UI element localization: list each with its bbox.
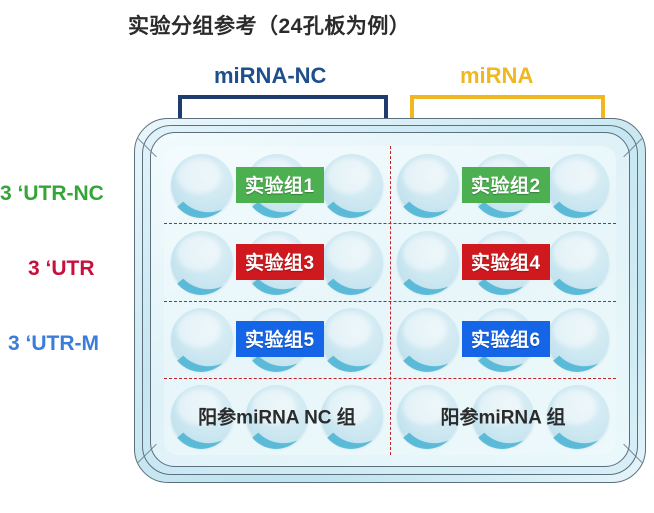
plate-well-area: 实验组1实验组2实验组3实验组4实验组5实验组6阳参miRNA NC 组阳参mi… xyxy=(164,146,616,455)
well[interactable] xyxy=(547,308,609,370)
plate-cell[interactable]: 实验组4 xyxy=(390,223,616,300)
cell-label-chip: 实验组3 xyxy=(236,244,324,280)
bracket-bar xyxy=(410,95,605,99)
well[interactable] xyxy=(397,308,459,370)
column-group-label-mirna-nc: miRNA-NC xyxy=(214,63,326,89)
row-label-utr-m: 3 ‘UTR-M xyxy=(8,332,99,356)
plate-cell[interactable]: 实验组1 xyxy=(164,146,390,223)
page-title: 实验分组参考（24孔板为例） xyxy=(128,10,410,40)
well[interactable] xyxy=(397,154,459,216)
well[interactable] xyxy=(321,231,383,293)
well[interactable] xyxy=(321,154,383,216)
well[interactable] xyxy=(171,308,233,370)
well[interactable] xyxy=(171,154,233,216)
well[interactable] xyxy=(397,231,459,293)
plate-cell[interactable]: 阳参miRNA 组 xyxy=(390,378,616,455)
plate-cell[interactable]: 实验组6 xyxy=(390,301,616,378)
cell-label-chip: 实验组1 xyxy=(236,167,324,203)
well[interactable] xyxy=(171,231,233,293)
cell-label-chip: 实验组4 xyxy=(462,244,550,280)
well[interactable] xyxy=(321,308,383,370)
row-label-utr: 3 ‘UTR xyxy=(28,257,95,281)
bracket-bar xyxy=(178,95,388,99)
cell-label-chip: 实验组2 xyxy=(462,167,550,203)
cell-label-plain: 阳参miRNA 组 xyxy=(390,403,616,430)
well-plate: 实验组1实验组2实验组3实验组4实验组5实验组6阳参miRNA NC 组阳参mi… xyxy=(134,118,646,483)
cell-label-plain: 阳参miRNA NC 组 xyxy=(164,403,390,430)
plate-cell[interactable]: 实验组5 xyxy=(164,301,390,378)
well[interactable] xyxy=(547,231,609,293)
plate-cell[interactable]: 实验组2 xyxy=(390,146,616,223)
plate-cell[interactable]: 实验组3 xyxy=(164,223,390,300)
column-group-label-mirna: miRNA xyxy=(460,63,533,89)
plate-cell[interactable]: 阳参miRNA NC 组 xyxy=(164,378,390,455)
cell-label-chip: 实验组5 xyxy=(236,321,324,357)
cell-label-chip: 实验组6 xyxy=(462,321,550,357)
well[interactable] xyxy=(547,154,609,216)
row-label-utr-nc: 3 ‘UTR-NC xyxy=(0,182,104,206)
